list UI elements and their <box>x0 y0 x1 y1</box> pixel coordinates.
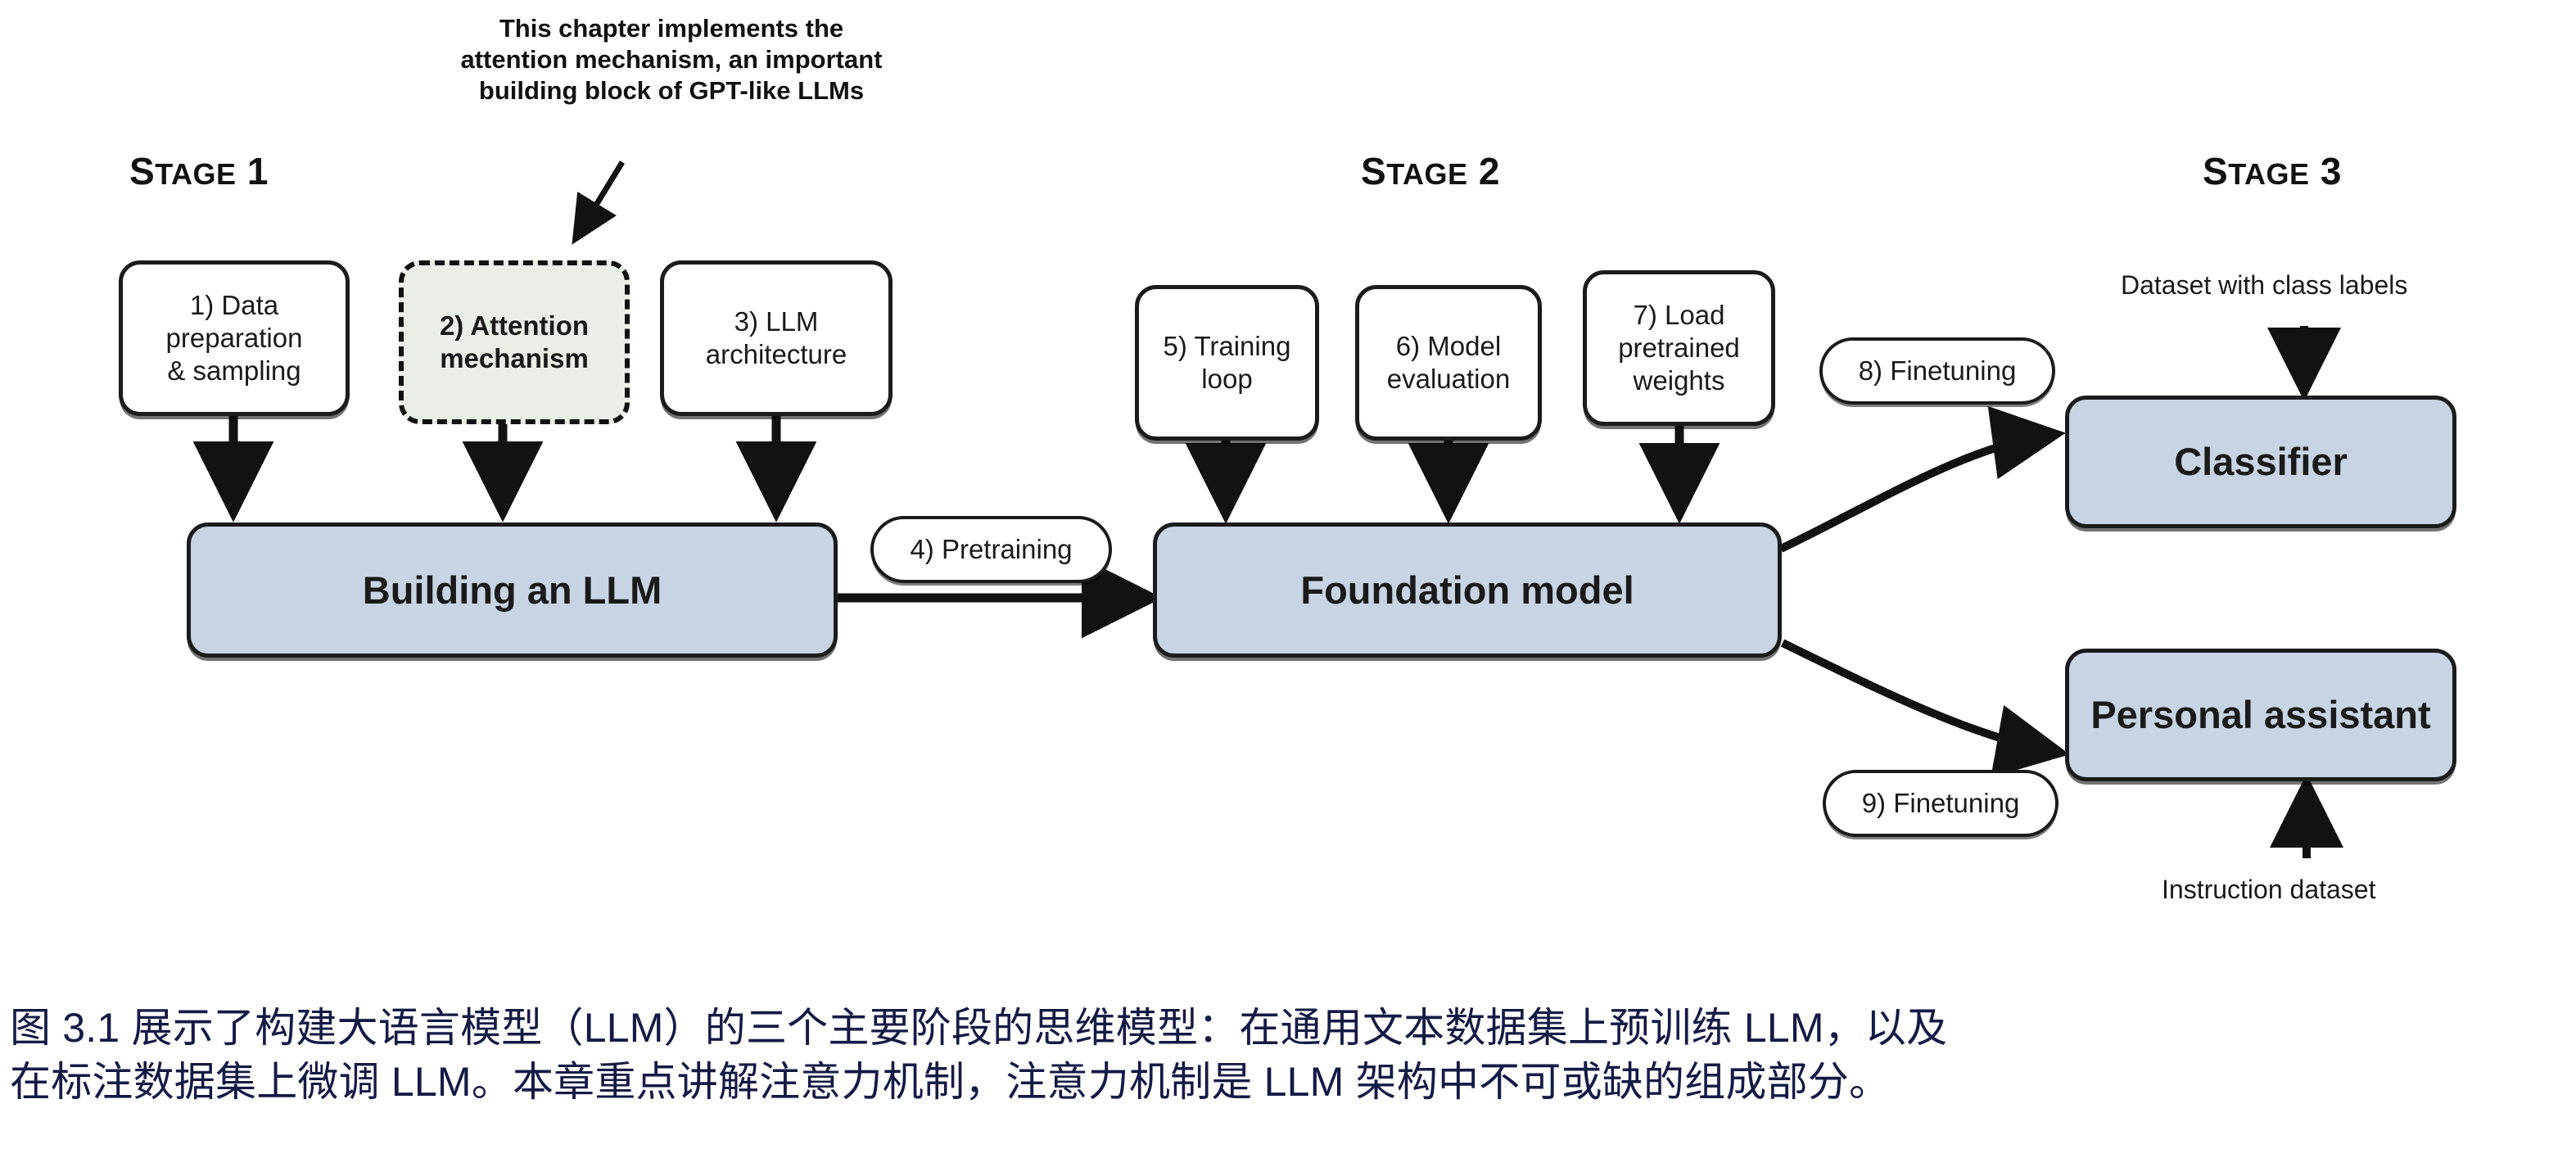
classifier-label: Classifier <box>2167 438 2354 485</box>
stage-2-space <box>1468 150 1479 192</box>
stage2-box-6-line-2: evaluation <box>1387 363 1510 396</box>
stage-3-initial: S <box>2203 150 2228 192</box>
chapter-callout: This chapter implements the attention me… <box>442 13 901 106</box>
stage1-box-3-text: 3) LLM architecture <box>699 305 853 372</box>
pill-pretraining[interactable]: 4) Pretraining <box>870 516 1112 583</box>
stage1-box-2-text: 2) Attention mechanism <box>433 310 595 376</box>
stage2-box-model-evaluation[interactable]: 6) Model evaluation <box>1355 285 1542 441</box>
stage-2-heading: STAGE 2 <box>1361 149 1500 193</box>
stage1-box-1-line-3: & sampling <box>166 355 303 387</box>
stage2-box-7-line-2: pretrained <box>1618 332 1740 364</box>
stage1-box-3-line-1: 3) LLM <box>706 305 847 338</box>
callout-line-1: This chapter implements the <box>442 13 901 44</box>
stage-1-initial: S <box>129 150 155 192</box>
arrow-foundation-to-classifier <box>1781 435 2051 549</box>
stage-1-number <box>237 150 247 192</box>
stage-3-num: 3 <box>2321 150 2342 192</box>
arrow-foundation-to-assistant <box>1783 643 2055 752</box>
instruction-dataset-label: Instruction dataset <box>2162 875 2375 905</box>
stage1-box-1-text: 1) Data preparation & sampling <box>160 289 310 388</box>
stage-2-num: 2 <box>1479 150 1500 192</box>
pill-finetuning-9-label: 9) Finetuning <box>1862 788 2020 819</box>
foundation-model-label: Foundation model <box>1294 567 1640 613</box>
personal-assistant-box[interactable]: Personal assistant <box>2065 649 2456 781</box>
stage1-box-data-preparation[interactable]: 1) Data preparation & sampling <box>119 260 350 416</box>
stage2-box-7-text: 7) Load pretrained weights <box>1611 299 1747 398</box>
figure-caption: 图 3.1 展示了构建大语言模型（LLM）的三个主要阶段的思维模型：在通用文本数… <box>10 1001 2573 1109</box>
stage2-box-7-line-3: weights <box>1618 364 1740 397</box>
stage-3-rest: TAGE <box>2228 157 2309 191</box>
stage2-box-6-text: 6) Model evaluation <box>1381 330 1516 396</box>
stage1-box-attention-mechanism[interactable]: 2) Attention mechanism <box>399 260 630 424</box>
stage1-box-2-line-2: mechanism <box>440 342 589 375</box>
callout-line-2: attention mechanism, an important <box>442 44 901 75</box>
stage2-box-5-text: 5) Training loop <box>1157 330 1298 396</box>
stage1-box-2-line-1: 2) Attention <box>440 310 589 342</box>
stage2-box-5-line-2: loop <box>1164 363 1291 396</box>
pill-finetuning-8[interactable]: 8) Finetuning <box>1819 337 2055 405</box>
stage1-box-1-line-1: 1) Data <box>166 289 303 322</box>
stage1-box-1-line-2: preparation <box>166 322 303 355</box>
stage2-box-load-pretrained-weights[interactable]: 7) Load pretrained weights <box>1583 270 1775 426</box>
caption-line-1: 图 3.1 展示了构建大语言模型（LLM）的三个主要阶段的思维模型：在通用文本数… <box>10 1001 2573 1055</box>
stage-3-space <box>2310 150 2321 192</box>
stage-3-heading: STAGE 3 <box>2203 149 2342 193</box>
stage-2-initial: S <box>1361 150 1386 192</box>
instruction-dataset-text: Instruction dataset <box>2162 875 2375 904</box>
dataset-with-class-labels-label: Dataset with class labels <box>2121 270 2407 301</box>
stage1-box-3-line-2: architecture <box>706 338 847 371</box>
stage2-box-training-loop[interactable]: 5) Training loop <box>1135 285 1319 441</box>
personal-assistant-label: Personal assistant <box>2084 691 2437 738</box>
stage-1-heading: STAGE 1 <box>129 149 269 193</box>
stage2-box-5-line-1: 5) Training <box>1164 330 1291 363</box>
stage-1-num: 1 <box>247 150 269 192</box>
caption-line-2: 在标注数据集上微调 LLM。本章重点讲解注意力机制，注意力机制是 LLM 架构中… <box>10 1055 2573 1109</box>
stage-1-rest: TAGE <box>155 157 236 191</box>
pill-finetuning-9[interactable]: 9) Finetuning <box>1823 770 2059 837</box>
building-an-llm-box[interactable]: Building an LLM <box>187 522 838 658</box>
arrow-callout-to-attention <box>577 162 622 236</box>
classifier-box[interactable]: Classifier <box>2065 396 2456 528</box>
stage1-box-llm-architecture[interactable]: 3) LLM architecture <box>660 260 893 416</box>
stage2-box-7-line-1: 7) Load <box>1618 299 1740 332</box>
building-an-llm-label: Building an LLM <box>356 567 669 613</box>
foundation-model-box[interactable]: Foundation model <box>1153 522 1782 658</box>
pill-finetuning-8-label: 8) Finetuning <box>1859 355 2017 387</box>
pill-pretraining-label: 4) Pretraining <box>910 534 1072 565</box>
stage2-box-6-line-1: 6) Model <box>1387 330 1510 363</box>
figure-canvas: STAGE 1 STAGE 2 STAGE 3 This chapter imp… <box>0 0 2576 1158</box>
callout-line-3: building block of GPT-like LLMs <box>442 75 901 106</box>
dataset-class-text: Dataset with class labels <box>2121 270 2407 300</box>
stage-2-rest: TAGE <box>1386 157 1467 191</box>
